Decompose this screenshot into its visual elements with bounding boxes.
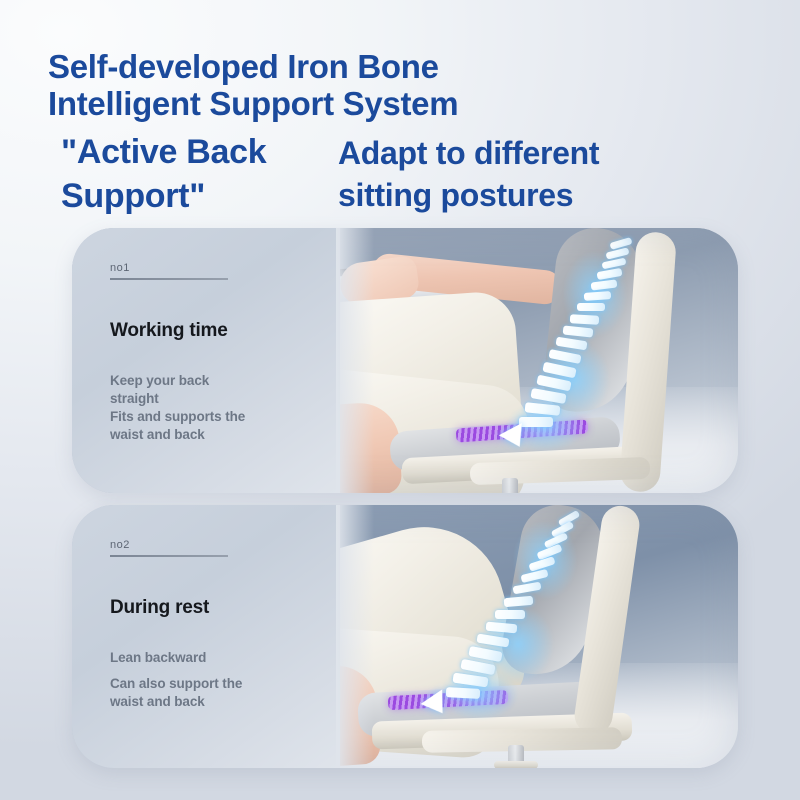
card-body-line: waist and back: [110, 693, 322, 711]
card-divider-rule: [110, 278, 228, 280]
card-body-line: Can also support the: [110, 675, 322, 693]
card-body-line: Keep your back: [110, 372, 322, 390]
headline-subtitle: Adapt to different sitting postures: [338, 132, 668, 216]
card-body-line: straight: [110, 390, 322, 408]
feature-card-during-rest: no2 During rest Lean backward Can also s…: [72, 505, 738, 768]
card-body-line: Fits and supports the: [110, 408, 322, 426]
card-title: During rest: [110, 597, 322, 619]
card-body-line: Lean backward: [110, 649, 322, 667]
headline-block: Self-developed Iron Bone Intelligent Sup…: [48, 48, 758, 222]
product-feature-page: Self-developed Iron Bone Intelligent Sup…: [0, 0, 800, 800]
headline-line-2: Intelligent Support System: [48, 85, 758, 122]
card-text-panel: no1 Working time Keep your back straight…: [72, 228, 340, 493]
spine-arrow-pointer: [499, 423, 531, 453]
headline-line-1: Self-developed Iron Bone: [48, 48, 758, 85]
headline-quote: "Active Back Support": [61, 130, 341, 218]
headline-secondary-row: "Active Back Support" Adapt to different…: [48, 130, 758, 222]
card-body-text: Keep your back straight Fits and support…: [110, 372, 322, 444]
card-divider-rule: [110, 555, 228, 557]
card-number-label: no1: [110, 262, 322, 274]
card-body-text: Lean backward Can also support the waist…: [110, 649, 322, 711]
card-title: Working time: [110, 320, 322, 342]
card-text-panel: no2 During rest Lean backward Can also s…: [72, 505, 340, 768]
card-number-label: no2: [110, 539, 322, 551]
card-body-line: waist and back: [110, 426, 322, 444]
feature-card-working-time: no1 Working time Keep your back straight…: [72, 228, 738, 493]
